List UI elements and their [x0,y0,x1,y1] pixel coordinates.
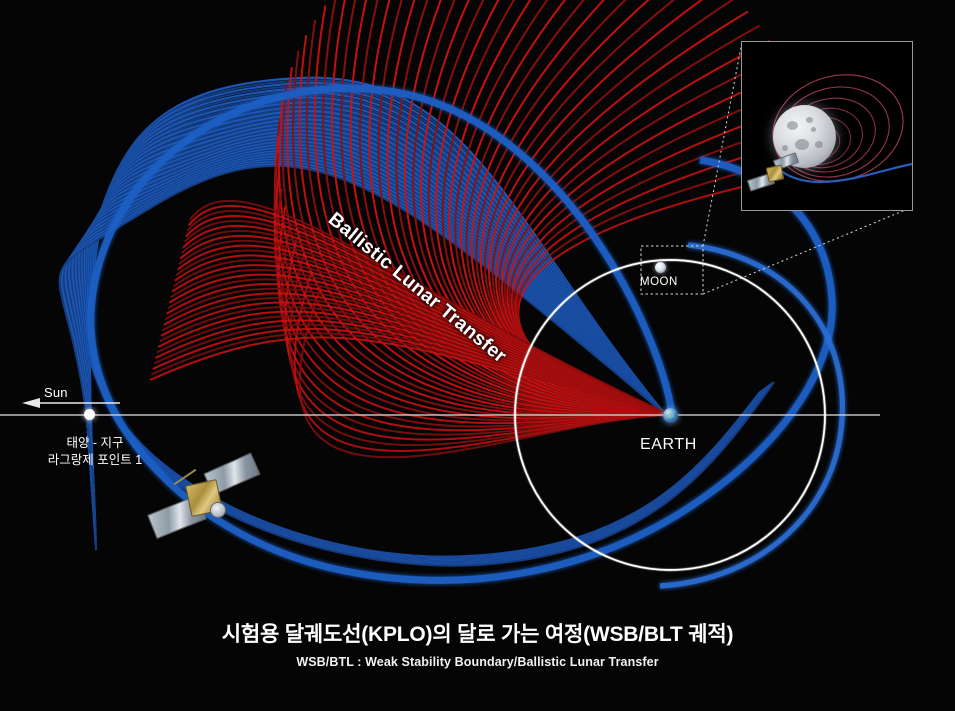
lunar-capture-inset[interactable] [741,41,913,211]
sun-label: Sun [44,385,68,400]
inset-spacecraft-bus [766,165,785,183]
lagrange-point-label-line1: 태양 - 지구 [30,435,160,452]
figure-subtitle: WSB/BTL : Weak Stability Boundary/Ballis… [0,655,955,669]
earth-globe [663,408,678,423]
moon-body [655,262,666,273]
lagrange-point-label: 태양 - 지구 라그랑제 포인트 1 [30,435,160,469]
inset-spacecraft [748,154,798,196]
kplo-spacecraft [148,458,264,558]
figure-canvas: Sun 태양 - 지구 라그랑제 포인트 1 EARTH MOON Ballis… [0,0,955,711]
high-gain-antenna [210,502,226,518]
figure-title: 시험용 달궤도선(KPLO)의 달로 가는 여정(WSB/BLT 궤적) [0,618,955,648]
moon-label: MOON [640,276,678,288]
earth-label: EARTH [640,436,697,454]
antenna-boom [174,469,197,485]
lagrange-point-label-line2: 라그랑제 포인트 1 [30,452,160,469]
lagrange-point-marker [84,409,95,420]
